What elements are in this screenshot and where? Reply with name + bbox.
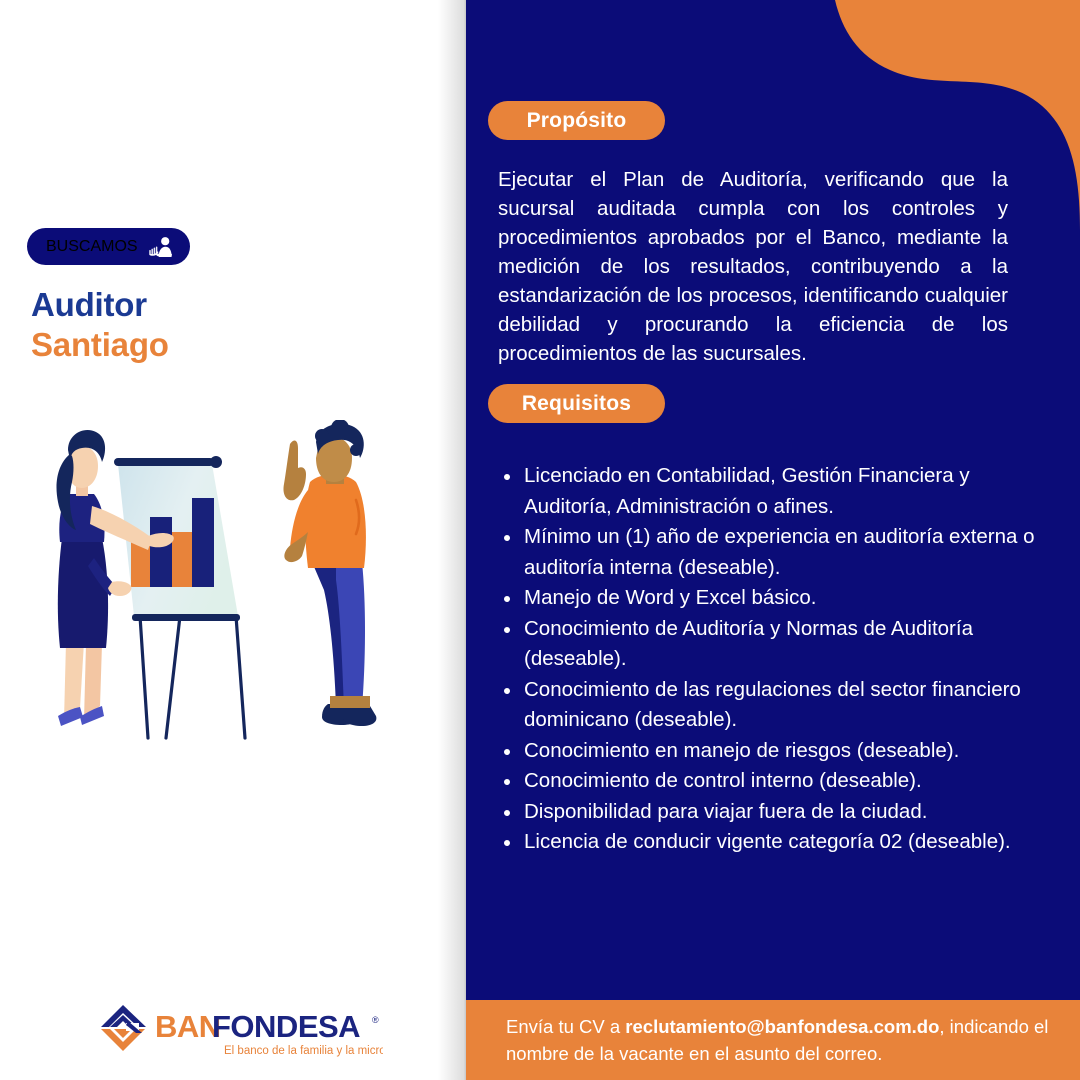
recruitment-email[interactable]: reclutamiento@banfondesa.com.do	[625, 1016, 939, 1037]
section-pill-proposito-label: Propósito	[527, 110, 627, 131]
requirement-item: Conocimiento en manejo de riesgos (desea…	[496, 736, 1041, 767]
requirement-item: Conocimiento de las regulaciones del sec…	[496, 675, 1041, 736]
footer-contact-band: Envía tu CV a reclutamiento@banfondesa.c…	[466, 1000, 1080, 1080]
section-pill-requisitos: Requisitos	[488, 384, 665, 423]
details-panel: Propósito Ejecutar el Plan de Auditoría,…	[466, 0, 1080, 1080]
requirement-item: Conocimiento de Auditoría y Normas de Au…	[496, 614, 1041, 675]
intro-panel: BUSCAMOS Auditor Santiago	[0, 0, 466, 1080]
banfondesa-logo-svg: BAN FONDESA ® El banco de la familia y l…	[98, 1003, 383, 1059]
requirement-item: Licencia de conducir vigente categoría 0…	[496, 827, 1041, 858]
purpose-body-text: Ejecutar el Plan de Auditoría, verifican…	[498, 165, 1008, 368]
job-location: Santiago	[31, 325, 169, 365]
page-title: Auditor	[31, 285, 147, 325]
requirement-item: Disponibilidad para viajar fuera de la c…	[496, 797, 1041, 828]
section-pill-proposito: Propósito	[488, 101, 665, 140]
person-at-desk-icon	[148, 236, 174, 258]
footer-contact-text: Envía tu CV a reclutamiento@banfondesa.c…	[506, 1013, 1051, 1067]
banfondesa-diamond-logo-icon	[101, 1005, 146, 1051]
requirement-item: Mínimo un (1) año de experiencia en audi…	[496, 522, 1041, 583]
banfondesa-logo: BAN FONDESA ® El banco de la familia y l…	[98, 1003, 383, 1059]
logo-word-fondesa: FONDESA	[212, 1009, 360, 1044]
requirement-item: Conocimiento de control interno (deseabl…	[496, 766, 1041, 797]
requirements-list: Licenciado en Contabilidad, Gestión Fina…	[496, 461, 1041, 858]
logo-tagline: El banco de la familia y la microempresa	[224, 1045, 383, 1057]
requirement-item: Licenciado en Contabilidad, Gestión Fina…	[496, 461, 1041, 522]
buscamos-label: BUSCAMOS	[46, 238, 138, 256]
job-posting-poster: Propósito Ejecutar el Plan de Auditoría,…	[0, 0, 1080, 1080]
logo-registered-mark: ®	[372, 1015, 379, 1025]
footer-prefix: Envía tu CV a	[506, 1016, 625, 1037]
buscamos-badge: BUSCAMOS	[27, 228, 190, 265]
requirement-item: Manejo de Word y Excel básico.	[496, 583, 1041, 614]
logo-word-ban: BAN	[155, 1009, 221, 1044]
section-pill-requisitos-label: Requisitos	[522, 393, 631, 414]
two-people-flipchart-illustration	[40, 420, 400, 750]
